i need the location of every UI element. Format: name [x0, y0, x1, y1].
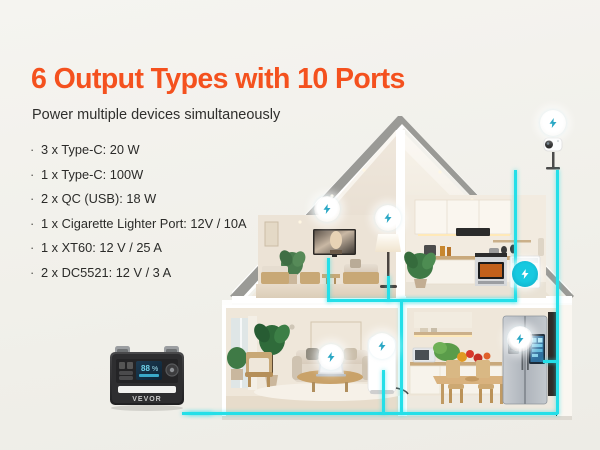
- brand-label: VEVOR: [132, 396, 162, 403]
- svg-text:%: %: [152, 366, 158, 373]
- lightning-bolt-icon: [514, 333, 526, 345]
- list-item: · 1 x Cigarette Lighter Port: 12V / 10A: [30, 216, 247, 241]
- charge-badge-washer: [512, 261, 538, 287]
- spec-text: 3 x Type-C: 20 W: [41, 142, 140, 157]
- wire-purifier-drop: [382, 370, 385, 414]
- svg-text:88: 88: [141, 364, 150, 373]
- spec-text: 1 x Type-C: 100W: [41, 167, 143, 182]
- infographic-canvas: 88 % VEVOR 6 Output Types with 10 Ports …: [0, 0, 600, 450]
- wire-right-stub: [543, 360, 558, 363]
- bullet-icon: ·: [30, 217, 41, 230]
- charge-badge-laptop: [318, 344, 344, 370]
- spec-text: 1 x XT60: 12 V / 25 A: [41, 240, 162, 255]
- wire-divider-drop: [400, 299, 403, 415]
- charge-badge-fridge: [507, 326, 533, 352]
- security-camera: [544, 138, 562, 170]
- lightning-bolt-icon: [382, 212, 394, 224]
- lightning-bolt-icon: [321, 203, 333, 215]
- bullet-icon: ·: [30, 241, 41, 254]
- wire-right-edge: [556, 170, 559, 414]
- lightning-bolt-icon: [547, 117, 559, 129]
- wire-lower-floor: [188, 412, 558, 415]
- page-title: 6 Output Types with 10 Ports: [31, 63, 405, 96]
- spec-text: 2 x QC (USB): 18 W: [41, 191, 156, 206]
- lightning-bolt-icon: [519, 268, 531, 280]
- wire-lamp-drop: [387, 276, 390, 302]
- range-oven: [475, 253, 507, 286]
- lightning-bolt-icon: [376, 340, 388, 352]
- charge-badge-camera: [540, 110, 566, 136]
- lightning-bolt-icon: [325, 351, 337, 363]
- portable-power-station: 88 % VEVOR: [103, 340, 191, 412]
- bullet-icon: ·: [30, 266, 41, 279]
- list-item: · 1 x Type-C: 100W: [30, 167, 247, 192]
- charge-badge-purifier: [369, 333, 395, 359]
- wire-tv-drop: [327, 258, 330, 302]
- list-item: · 2 x DC5521: 12 V / 3 A: [30, 265, 247, 290]
- spec-text: 1 x Cigarette Lighter Port: 12V / 10A: [41, 216, 247, 231]
- wall-tv: [313, 229, 356, 257]
- bullet-icon: ·: [30, 143, 41, 156]
- spec-text: 2 x DC5521: 12 V / 3 A: [41, 265, 171, 280]
- list-item: · 1 x XT60: 12 V / 25 A: [30, 240, 247, 265]
- list-item: · 3 x Type-C: 20 W: [30, 142, 247, 167]
- charge-badge-tv: [314, 196, 340, 222]
- bullet-icon: ·: [30, 192, 41, 205]
- page-subtitle: Power multiple devices simultaneously: [32, 107, 280, 123]
- wire-station-lead: [182, 412, 212, 415]
- charge-badge-lamp: [375, 205, 401, 231]
- bullet-icon: ·: [30, 168, 41, 181]
- wire-upper-kitchen-top: [404, 299, 516, 302]
- spec-list: · 3 x Type-C: 20 W · 1 x Type-C: 100W · …: [30, 142, 247, 289]
- list-item: · 2 x QC (USB): 18 W: [30, 191, 247, 216]
